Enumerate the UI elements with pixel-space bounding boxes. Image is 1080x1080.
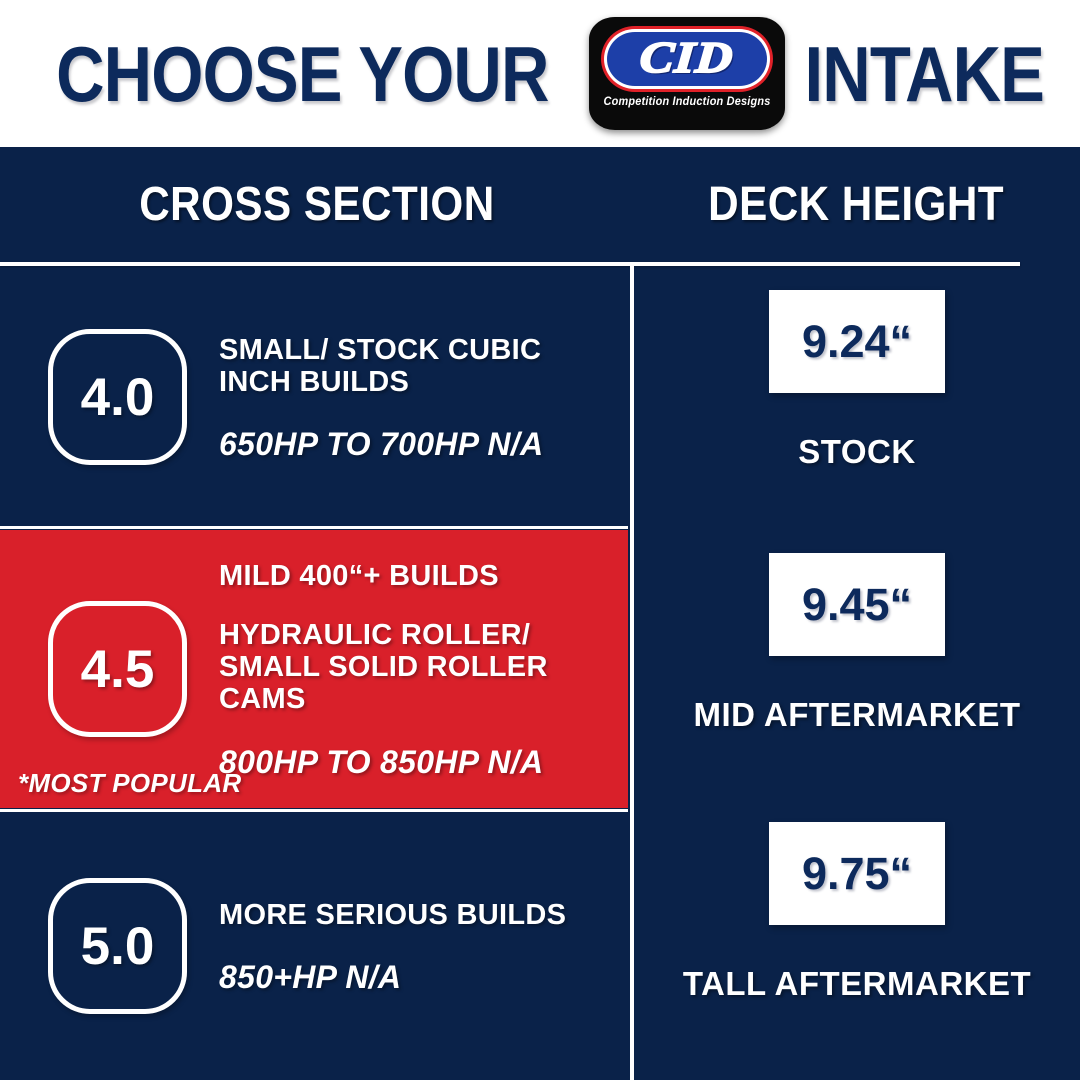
most-popular-note: *MOST POPULAR (18, 770, 241, 796)
cross-section-description-secondary: HYDRAULIC ROLLER/ SMALL SOLID ROLLER CAM… (219, 619, 599, 716)
cross-section-row: 4.0 SMALL/ STOCK CUBIC INCH BUILDS 650HP… (0, 268, 628, 526)
cross-section-description: MORE SERIOUS BUILDS (219, 899, 566, 931)
deck-height-value-box: 9.24“ (769, 290, 945, 393)
column-header-deck-height: DECK HEIGHT (633, 147, 1080, 263)
page-title-left: CHOOSE YOUR (56, 35, 548, 113)
cross-section-detail: MORE SERIOUS BUILDS 850+HP N/A (219, 899, 586, 993)
deck-height-value: 9.75“ (802, 851, 912, 896)
column-header-cross-section-label: CROSS SECTION (139, 181, 494, 229)
cross-section-row: 5.0 MORE SERIOUS BUILDS 850+HP N/A (0, 812, 628, 1080)
logo-blue-core: CID (607, 32, 767, 86)
cross-section-size-badge: 5.0 (48, 878, 187, 1014)
cid-logo: CID Competition Induction Designs (589, 17, 785, 130)
column-header-cross-section: CROSS SECTION (0, 147, 633, 263)
infographic-root: CHOOSE YOUR CID Competition Induction De… (0, 0, 1080, 1080)
column-header-deck-height-label: DECK HEIGHT (709, 181, 1005, 229)
deck-height-value-box: 9.45“ (769, 553, 945, 656)
cross-section-horsepower: 800HP TO 850HP N/A (219, 746, 599, 778)
cross-section-size-value: 5.0 (81, 920, 155, 973)
logo-outer-ring: CID (601, 26, 773, 92)
deck-height-value: 9.24“ (802, 319, 912, 364)
cross-section-description: SMALL/ STOCK CUBIC INCH BUILDS (219, 334, 599, 399)
column-headers: CROSS SECTION DECK HEIGHT (0, 147, 1080, 263)
cross-section-size-value: 4.5 (81, 643, 155, 696)
cross-section-size-value: 4.0 (81, 371, 155, 424)
deck-height-cell: 9.24“ STOCK (634, 290, 1080, 468)
cross-section-size-badge: 4.5 (48, 601, 187, 737)
logo-tagline: Competition Induction Designs (594, 97, 780, 109)
cross-section-row-highlighted: 4.5 MILD 400“+ BUILDS HYDRAULIC ROLLER/ … (0, 530, 628, 808)
deck-height-label: TALL AFTERMARKET (683, 967, 1031, 1000)
deck-height-value-box: 9.75“ (769, 822, 945, 925)
logo-wordmark: CID (638, 36, 735, 82)
logo-white-ring: CID (604, 29, 770, 89)
deck-height-label: MID AFTERMARKET (693, 698, 1020, 731)
cross-section-horsepower: 850+HP N/A (219, 961, 566, 993)
deck-height-value: 9.45“ (802, 582, 912, 627)
row-top-rule (0, 526, 628, 529)
page-title-right: INTAKE (805, 35, 1045, 113)
cross-section-detail: SMALL/ STOCK CUBIC INCH BUILDS 650HP TO … (219, 334, 619, 461)
cross-section-detail: MILD 400“+ BUILDS HYDRAULIC ROLLER/ SMAL… (219, 560, 619, 778)
deck-height-cell: 9.75“ TALL AFTERMARKET (634, 822, 1080, 1000)
deck-height-cell: 9.45“ MID AFTERMARKET (634, 553, 1080, 731)
header-band: CHOOSE YOUR CID Competition Induction De… (0, 0, 1080, 147)
cross-section-size-badge: 4.0 (48, 329, 187, 465)
cross-section-horsepower: 650HP TO 700HP N/A (219, 428, 599, 460)
cross-section-description: MILD 400“+ BUILDS (219, 560, 599, 592)
deck-height-label: STOCK (798, 435, 915, 468)
header-divider-line (0, 262, 1020, 266)
